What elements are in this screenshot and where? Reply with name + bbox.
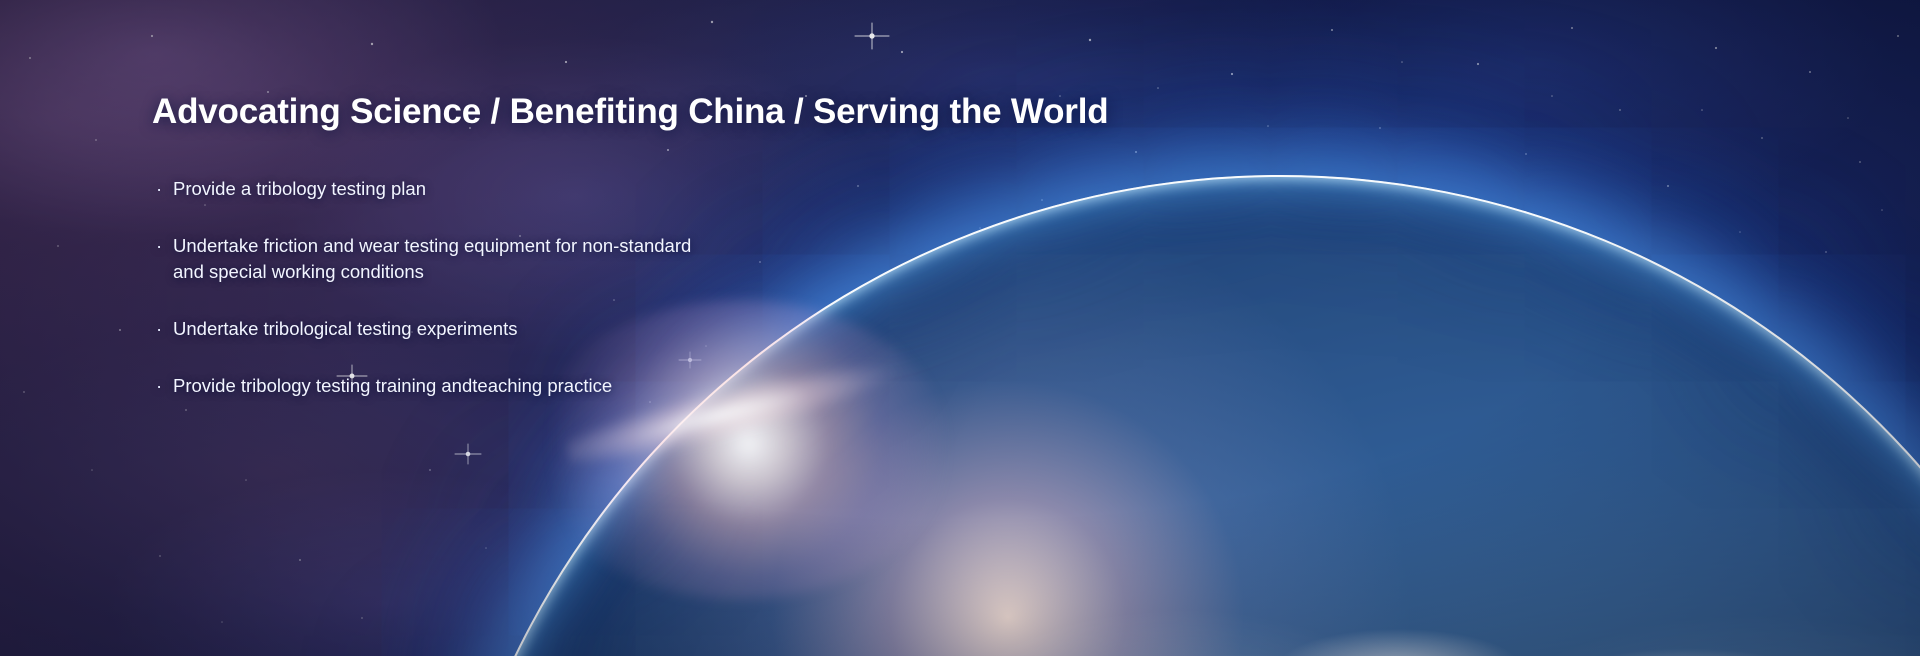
bullet-marker-icon: · [156, 316, 173, 342]
list-item: · Undertake friction and wear testing eq… [156, 233, 691, 285]
list-item: · Provide tribology testing training and… [156, 373, 691, 399]
banner-bullet-list: · Provide a tribology testing plan · Und… [156, 176, 691, 399]
list-item: · Undertake tribological testing experim… [156, 316, 691, 342]
list-item-label: Undertake friction and wear testing equi… [173, 233, 691, 285]
banner-headline: Advocating Science / Benefiting China / … [152, 92, 1108, 132]
list-item-label: Provide tribology testing training andte… [173, 373, 612, 399]
list-item-label: Provide a tribology testing plan [173, 176, 426, 202]
bullet-marker-icon: · [156, 373, 173, 399]
list-item-label: Undertake tribological testing experimen… [173, 316, 517, 342]
bullet-marker-icon: · [156, 176, 173, 202]
bullet-marker-icon: · [156, 233, 173, 259]
list-item: · Provide a tribology testing plan [156, 176, 691, 202]
hero-banner: Advocating Science / Benefiting China / … [0, 0, 1920, 656]
banner-content: Advocating Science / Benefiting China / … [152, 0, 1052, 656]
